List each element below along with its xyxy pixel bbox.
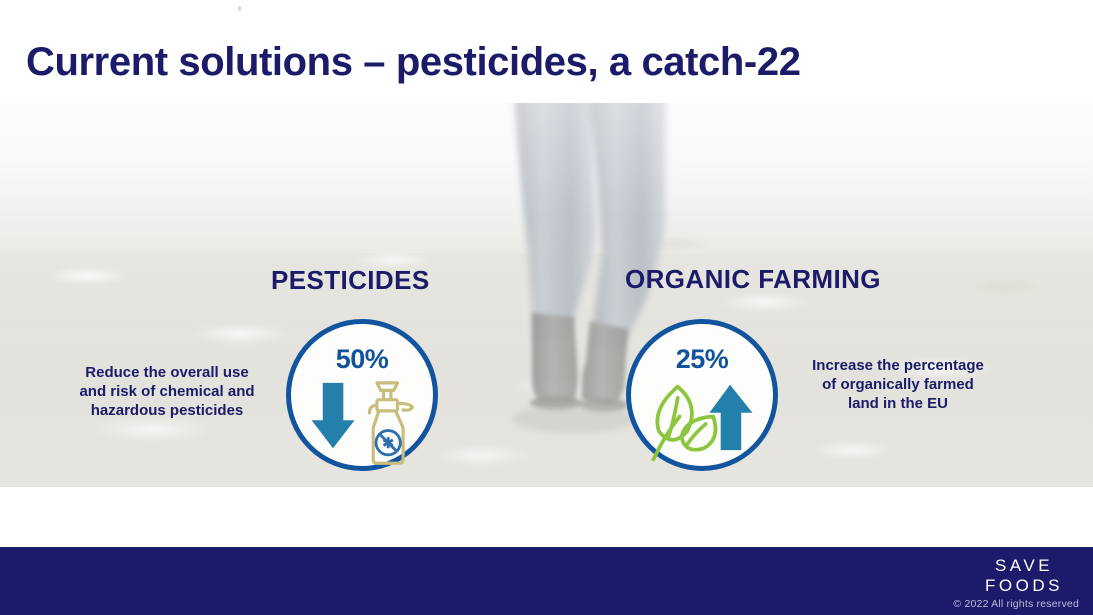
sprayer-bottle-icon	[369, 383, 412, 463]
up-arrow-icon	[709, 385, 752, 450]
copyright-text: © 2022 All rights reserved	[953, 598, 1079, 610]
down-arrow-icon	[312, 383, 355, 448]
column-heading-organic-farming: ORGANIC FARMING	[625, 264, 881, 295]
pesticides-circle-artwork	[291, 376, 433, 472]
page-title: Current solutions – pesticides, a catch-…	[26, 40, 801, 85]
slide-root: Current solutions – pesticides, a catch-…	[0, 0, 1093, 615]
stat-circle-organic-farming: 25%	[626, 319, 778, 471]
title-bar: Current solutions – pesticides, a catch-…	[0, 0, 1093, 103]
stat-percent-pesticides: 50%	[291, 344, 433, 375]
leaves-icon	[653, 387, 715, 460]
background-photo: PESTICIDES ORGANIC FARMING Reduce the ov…	[0, 103, 1093, 487]
description-organic-farming: Increase the percentage of organically f…	[806, 356, 990, 414]
dust-speck	[238, 6, 241, 11]
column-heading-pesticides: PESTICIDES	[271, 265, 430, 296]
navy-footer-bar: SAVE FOODS © 2022 All rights reserved	[0, 547, 1093, 615]
stat-circle-pesticides: 50%	[286, 319, 438, 471]
brand-line-save: SAVE	[985, 556, 1063, 576]
save-foods-logo: SAVE FOODS	[985, 556, 1063, 595]
no-pest-symbol-icon	[376, 431, 400, 455]
footer-strip: Towards dramatic reduction of pesticides	[0, 487, 1093, 547]
description-pesticides: Reduce the overall use and risk of chemi…	[75, 363, 259, 421]
brand-line-foods: FOODS	[985, 576, 1063, 596]
stat-percent-organic-farming: 25%	[631, 344, 773, 375]
organic-circle-artwork	[631, 376, 773, 472]
